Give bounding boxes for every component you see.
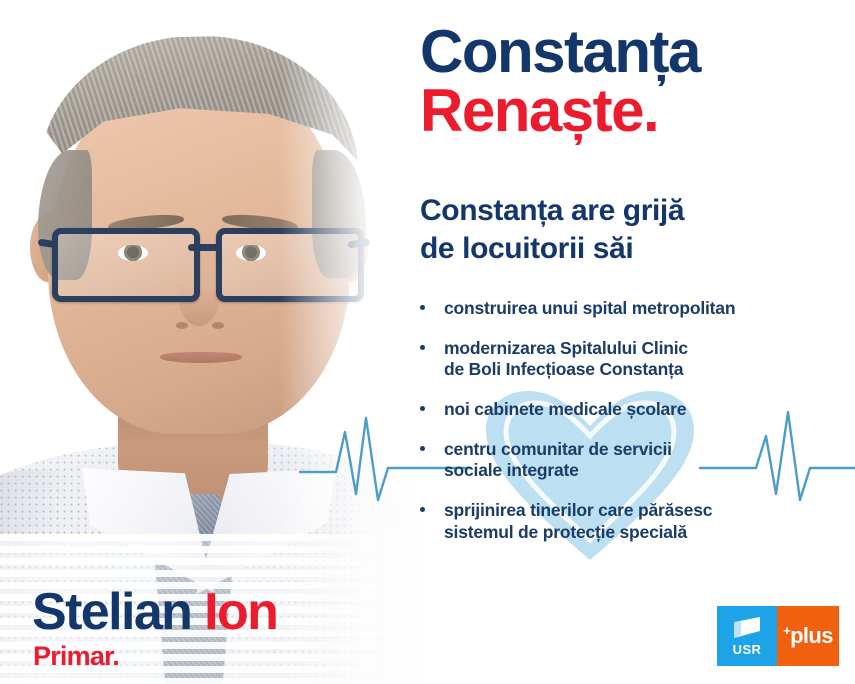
list-item-label: sprijinirea tinerilor care părăsescsiste… — [444, 500, 844, 543]
list-item-label: modernizarea Spitalului Clinicde Boli In… — [444, 338, 844, 381]
campaign-poster: Constanța Renaște. Constanța are grijă d… — [0, 0, 855, 684]
list-item: noi cabinete medicale școlare — [414, 399, 844, 421]
glasses-lens-left — [52, 228, 200, 302]
list-item: centru comunitar de serviciisociale inte… — [414, 439, 844, 482]
nostril-right — [212, 322, 224, 329]
plus-logo-label: +plus — [777, 623, 839, 649]
bullet-dot — [420, 507, 425, 512]
subheadline: Constanța are grijă de locuitorii săi — [420, 192, 684, 269]
bullet-dot — [420, 345, 425, 350]
plus-logo-word: plus — [790, 623, 833, 648]
page-title: Constanța Renaște. — [420, 22, 700, 141]
list-item: construirea unui spital metropolitan — [414, 298, 844, 320]
list-item: sprijinirea tinerilor care părăsescsiste… — [414, 500, 844, 543]
candidate-last-name: Ion — [204, 583, 277, 641]
plus-logo[interactable]: +plus — [777, 606, 839, 666]
subheadline-line-2: de locuitorii săi — [420, 230, 684, 268]
party-logos: USR +plus — [717, 606, 839, 666]
mouth — [160, 352, 242, 363]
candidate-name: Stelian Ion — [32, 586, 277, 638]
list-item: modernizarea Spitalului Clinicde Boli In… — [414, 338, 844, 381]
candidate-first-name: Stelian — [32, 583, 191, 641]
usr-flag-icon — [730, 617, 764, 639]
nostril-left — [176, 322, 188, 329]
candidate-role: Primar. — [33, 643, 119, 670]
list-item-label: noi cabinete medicale școlare — [444, 399, 844, 421]
bullet-dot — [420, 406, 425, 411]
bullet-dot — [420, 446, 425, 451]
bullet-dot — [420, 305, 425, 310]
subheadline-line-1: Constanța are grijă — [420, 192, 684, 230]
list-item-label: centru comunitar de serviciisociale inte… — [444, 439, 844, 482]
headline-line-2: Renaște. — [420, 81, 700, 140]
usr-logo[interactable]: USR — [717, 606, 777, 666]
list-item-label: construirea unui spital metropolitan — [444, 298, 844, 320]
promise-list: construirea unui spital metropolitan mod… — [414, 298, 844, 562]
headline-line-1: Constanța — [420, 22, 700, 81]
usr-logo-label: USR — [717, 642, 777, 657]
